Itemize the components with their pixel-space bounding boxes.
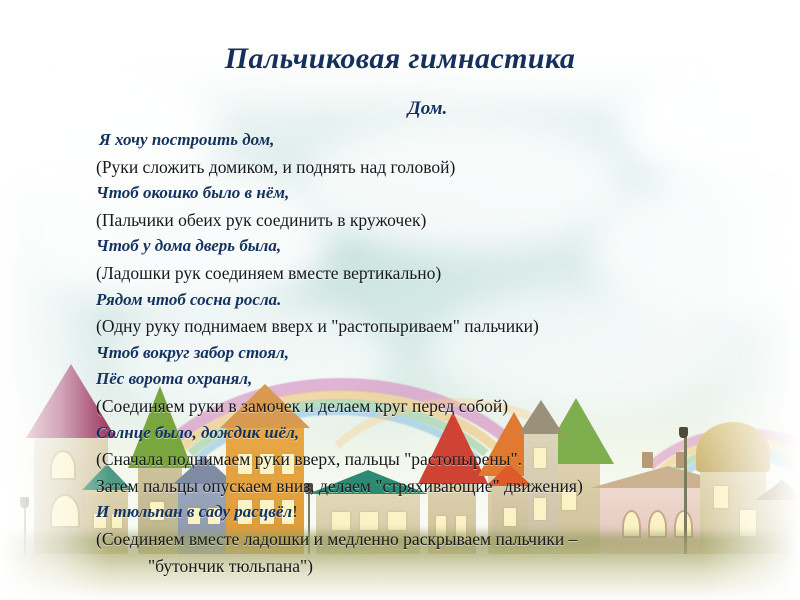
- poem-body: Я хочу построить дом,(Руки сложить домик…: [96, 127, 786, 579]
- page-subtitle: Дом.: [0, 98, 800, 120]
- poem-line: Солнце было, дождик шёл,: [96, 420, 786, 447]
- slide-canvas: Пальчиковая гимнастика Дом. Я хочу постр…: [0, 0, 800, 600]
- instruction-line: (Соединяем вместе ладошки и медленно рас…: [96, 526, 786, 553]
- poem-line: Чтоб вокруг забор стоял,: [96, 340, 786, 367]
- instruction-line: (Соединяем руки в замочек и делаем круг …: [96, 393, 786, 420]
- poem-line: Пёс ворота охранял,: [96, 366, 786, 393]
- line-suffix-punctuation: !: [292, 502, 298, 521]
- instruction-line: (Сначала поднимаем руки вверх, пальцы "р…: [96, 446, 786, 473]
- poem-line: Чтоб окошко было в нём,: [96, 180, 786, 207]
- poem-line: Рядом чтоб сосна росла.: [96, 287, 786, 314]
- poem-line: Чтоб у дома дверь была,: [96, 233, 786, 260]
- instruction-line: (Ладошки рук соединяем вместе вертикальн…: [96, 260, 786, 287]
- poem-line: Я хочу построить дом,: [99, 127, 786, 154]
- instruction-line: (Одну руку поднимаем вверх и "растопырив…: [96, 313, 786, 340]
- instruction-line: (Руки сложить домиком, и поднять над гол…: [96, 154, 786, 181]
- instruction-line: "бутончик тюльпана"): [148, 553, 786, 580]
- instruction-line: (Пальчики обеих рук соединить в кружочек…: [96, 207, 786, 234]
- page-title: Пальчиковая гимнастика: [0, 42, 800, 76]
- left-fade: [0, 0, 110, 600]
- instruction-line: Затем пальцы опускаем вниз, делаем "стря…: [96, 473, 786, 500]
- poem-line: И тюльпан в саду расцвёл!: [96, 499, 786, 526]
